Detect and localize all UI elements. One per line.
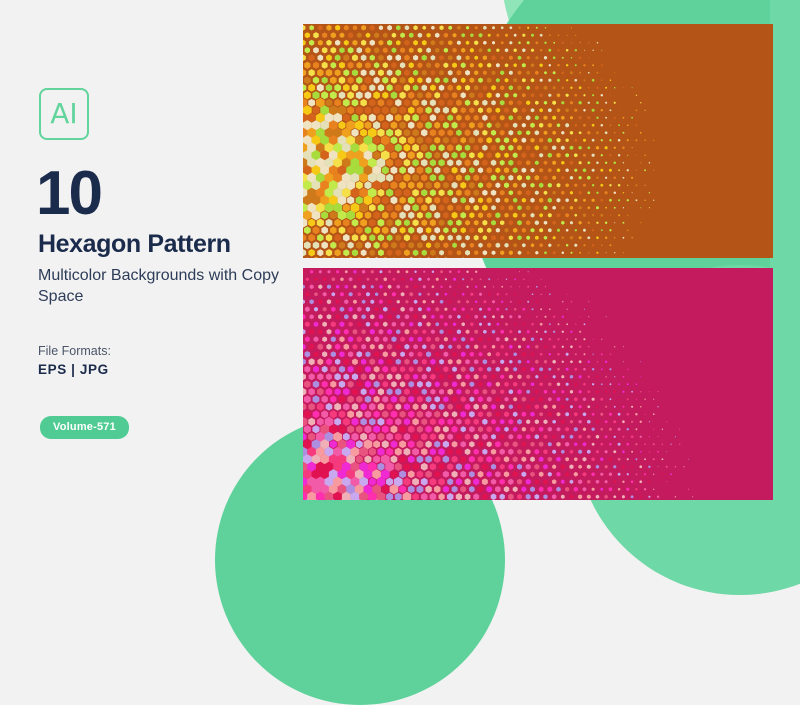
file-formats-label: File Formats: <box>38 344 111 358</box>
preview-pink-hexagon-pattern[interactable] <box>303 268 773 500</box>
item-count: 10 <box>36 163 101 225</box>
preview-orange-hexagon-pattern[interactable] <box>303 24 773 258</box>
ai-badge-label: AI <box>50 100 77 128</box>
page-title: Hexagon Pattern <box>38 232 231 257</box>
orange-hexagon-canvas <box>303 24 773 258</box>
volume-badge: Volume-571 <box>40 416 129 439</box>
adobe-illustrator-badge: AI <box>39 88 89 140</box>
poster-canvas: AI 10 Hexagon Pattern Multicolor Backgro… <box>0 0 800 500</box>
info-panel: AI 10 Hexagon Pattern Multicolor Backgro… <box>0 0 303 500</box>
pink-hexagon-canvas <box>303 268 773 500</box>
file-formats-value: EPS | JPG <box>38 362 109 377</box>
decor-band-right <box>770 0 800 500</box>
page-subtitle: Multicolor Backgrounds with Copy Space <box>38 266 288 308</box>
